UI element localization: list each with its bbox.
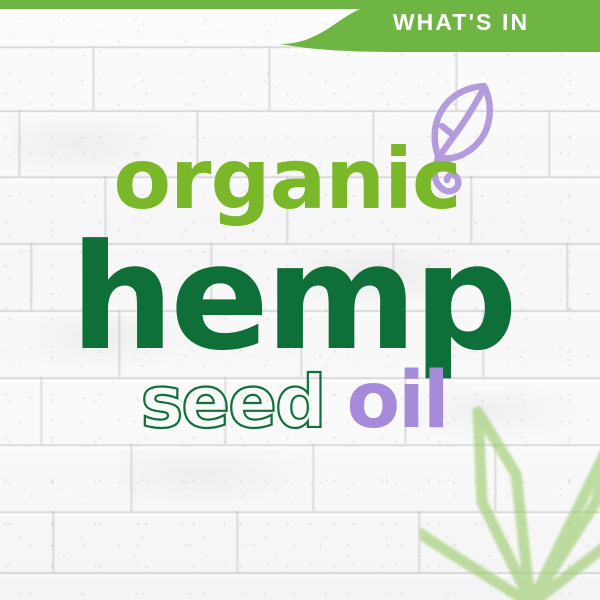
leaf-doodle-icon <box>408 72 528 198</box>
brick-head-joint <box>210 243 213 310</box>
brick-head-joint <box>548 110 551 176</box>
brick-head-joint <box>40 377 43 444</box>
promo-graphic-canvas: organic hemp seed oil WHAT'S IN <box>0 0 600 600</box>
whats-in-banner: WHAT'S IN <box>280 0 600 52</box>
brick-head-joint <box>286 176 289 243</box>
brick-head-joint <box>30 243 33 310</box>
brick-head-joint <box>372 110 375 176</box>
brick-head-joint <box>300 310 303 377</box>
brick-mortar-course <box>0 243 600 246</box>
brick-head-joint <box>236 511 239 572</box>
brick-head-joint <box>18 110 21 176</box>
brick-head-joint <box>92 46 95 110</box>
brick-head-joint <box>104 176 107 243</box>
brick-head-joint <box>130 444 133 511</box>
brick-head-joint <box>404 377 407 444</box>
brick-head-joint <box>392 243 395 310</box>
brick-head-joint <box>268 46 271 110</box>
brick-head-joint <box>566 243 569 310</box>
brick-head-joint <box>118 310 121 377</box>
brick-head-joint <box>312 444 315 511</box>
brick-head-joint <box>52 511 55 572</box>
brick-head-joint <box>196 110 199 176</box>
cannabis-leaf-icon <box>420 352 600 600</box>
banner-label: WHAT'S IN <box>348 0 574 44</box>
brick-head-joint <box>224 377 227 444</box>
